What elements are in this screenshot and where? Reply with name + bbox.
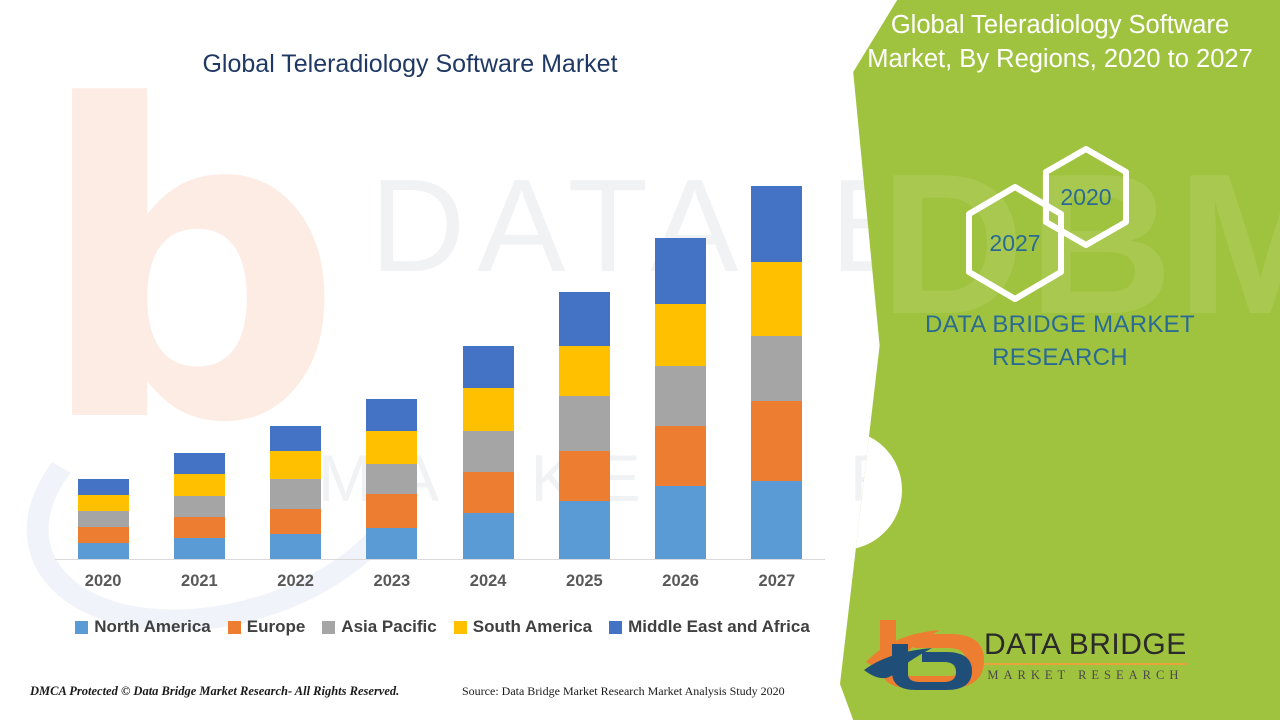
footer-copyright: DMCA Protected © Data Bridge Market Rese… xyxy=(30,684,399,699)
bar-segment[interactable] xyxy=(559,346,610,396)
bar-column[interactable] xyxy=(440,120,536,559)
bar-segment[interactable] xyxy=(559,501,610,559)
legend-label: South America xyxy=(473,617,592,637)
bar-segment[interactable] xyxy=(366,431,417,464)
bar-stack[interactable] xyxy=(174,453,225,559)
x-axis-label: 2024 xyxy=(440,572,536,591)
legend-swatch-icon xyxy=(75,621,88,634)
bar-segment[interactable] xyxy=(78,479,129,495)
legend-swatch-icon xyxy=(228,621,241,634)
x-axis-line xyxy=(55,559,825,560)
bar-segment[interactable] xyxy=(559,292,610,346)
bar-column[interactable] xyxy=(633,120,729,559)
bar-segment[interactable] xyxy=(174,496,225,517)
legend-label: Middle East and Africa xyxy=(628,617,810,637)
legend-label: North America xyxy=(94,617,211,637)
bar-segment[interactable] xyxy=(655,426,706,486)
bar-segment[interactable] xyxy=(463,388,514,431)
bar-segment[interactable] xyxy=(463,472,514,513)
bar-segment[interactable] xyxy=(655,366,706,426)
x-axis-label: 2022 xyxy=(248,572,344,591)
bar-stack[interactable] xyxy=(751,186,802,559)
bar-segment[interactable] xyxy=(78,527,129,543)
bar-segment[interactable] xyxy=(366,464,417,494)
x-axis-label: 2020 xyxy=(55,572,151,591)
bar-segment[interactable] xyxy=(270,509,321,534)
bar-segment[interactable] xyxy=(751,401,802,481)
bar-segment[interactable] xyxy=(270,426,321,451)
bar-segment[interactable] xyxy=(655,238,706,304)
logo-text-block: DATA BRIDGE MARKET RESEARCH xyxy=(984,628,1187,683)
logo-name: DATA BRIDGE xyxy=(984,628,1187,665)
legend-item[interactable]: North America xyxy=(75,617,211,637)
x-axis-label: 2025 xyxy=(536,572,632,591)
bar-stack[interactable] xyxy=(655,238,706,559)
logo-tagline: MARKET RESEARCH xyxy=(984,668,1187,683)
bar-segment[interactable] xyxy=(655,304,706,366)
bar-series-container xyxy=(55,120,825,559)
legend-swatch-icon xyxy=(322,621,335,634)
bar-segment[interactable] xyxy=(270,479,321,509)
bar-segment[interactable] xyxy=(463,346,514,388)
bar-column[interactable] xyxy=(536,120,632,559)
chart-canvas: b DATA BRIDGE MARKET RESEARCH Global Tel… xyxy=(0,0,1280,720)
logo-mark-icon xyxy=(862,614,992,692)
bar-column[interactable] xyxy=(344,120,440,559)
chart-legend: North AmericaEuropeAsia PacificSouth Ame… xyxy=(55,617,830,637)
bar-stack[interactable] xyxy=(559,292,610,559)
bar-segment[interactable] xyxy=(78,495,129,511)
legend-item[interactable]: South America xyxy=(454,617,592,637)
legend-swatch-icon xyxy=(454,621,467,634)
bar-segment[interactable] xyxy=(655,486,706,559)
legend-label: Asia Pacific xyxy=(341,617,436,637)
bar-segment[interactable] xyxy=(559,451,610,501)
x-axis-label: 2023 xyxy=(344,572,440,591)
bar-segment[interactable] xyxy=(751,481,802,559)
data-bridge-logo: DATA BRIDGE MARKET RESEARCH xyxy=(862,612,1262,694)
footer-source: Source: Data Bridge Market Research Mark… xyxy=(462,684,785,699)
bar-stack[interactable] xyxy=(270,426,321,559)
bar-segment[interactable] xyxy=(78,543,129,559)
hexagon-2027-label: 2027 xyxy=(989,230,1040,257)
hexagon-2020-label: 2020 xyxy=(1060,184,1111,211)
hexagon-group: 2020 2027 xyxy=(948,145,1178,290)
bar-column[interactable] xyxy=(55,120,151,559)
legend-item[interactable]: Middle East and Africa xyxy=(609,617,810,637)
right-green-panel: DBMR Global Teleradiology Software Marke… xyxy=(840,0,1280,720)
bar-stack[interactable] xyxy=(366,399,417,559)
plot-area xyxy=(55,120,825,560)
x-axis-label: 2027 xyxy=(729,572,825,591)
bar-segment[interactable] xyxy=(463,513,514,559)
x-axis-label: 2026 xyxy=(633,572,729,591)
x-axis-labels: 20202021202220232024202520262027 xyxy=(55,572,825,591)
bar-stack[interactable] xyxy=(78,479,129,559)
legend-label: Europe xyxy=(247,617,306,637)
bar-segment[interactable] xyxy=(751,336,802,401)
bar-segment[interactable] xyxy=(559,396,610,451)
bar-segment[interactable] xyxy=(751,186,802,262)
bar-segment[interactable] xyxy=(78,511,129,527)
bar-segment[interactable] xyxy=(174,538,225,559)
bar-column[interactable] xyxy=(248,120,344,559)
bar-segment[interactable] xyxy=(270,451,321,479)
bar-segment[interactable] xyxy=(366,528,417,559)
bar-segment[interactable] xyxy=(366,494,417,528)
bar-segment[interactable] xyxy=(174,517,225,538)
x-axis-label: 2021 xyxy=(151,572,247,591)
bar-segment[interactable] xyxy=(174,453,225,474)
panel-brand-name: DATA BRIDGE MARKET RESEARCH xyxy=(860,308,1260,374)
panel-title: Global Teleradiology Software Market, By… xyxy=(856,8,1264,76)
bar-segment[interactable] xyxy=(751,262,802,336)
legend-item[interactable]: Europe xyxy=(228,617,306,637)
bar-segment[interactable] xyxy=(174,474,225,496)
chart-title: Global Teleradiology Software Market xyxy=(60,50,760,79)
hexagon-2027: 2027 xyxy=(962,183,1068,303)
bar-segment[interactable] xyxy=(366,399,417,431)
bar-stack[interactable] xyxy=(463,346,514,559)
legend-swatch-icon xyxy=(609,621,622,634)
bar-column[interactable] xyxy=(729,120,825,559)
bar-column[interactable] xyxy=(151,120,247,559)
bar-segment[interactable] xyxy=(270,534,321,559)
bar-segment[interactable] xyxy=(463,431,514,472)
legend-item[interactable]: Asia Pacific xyxy=(322,617,436,637)
